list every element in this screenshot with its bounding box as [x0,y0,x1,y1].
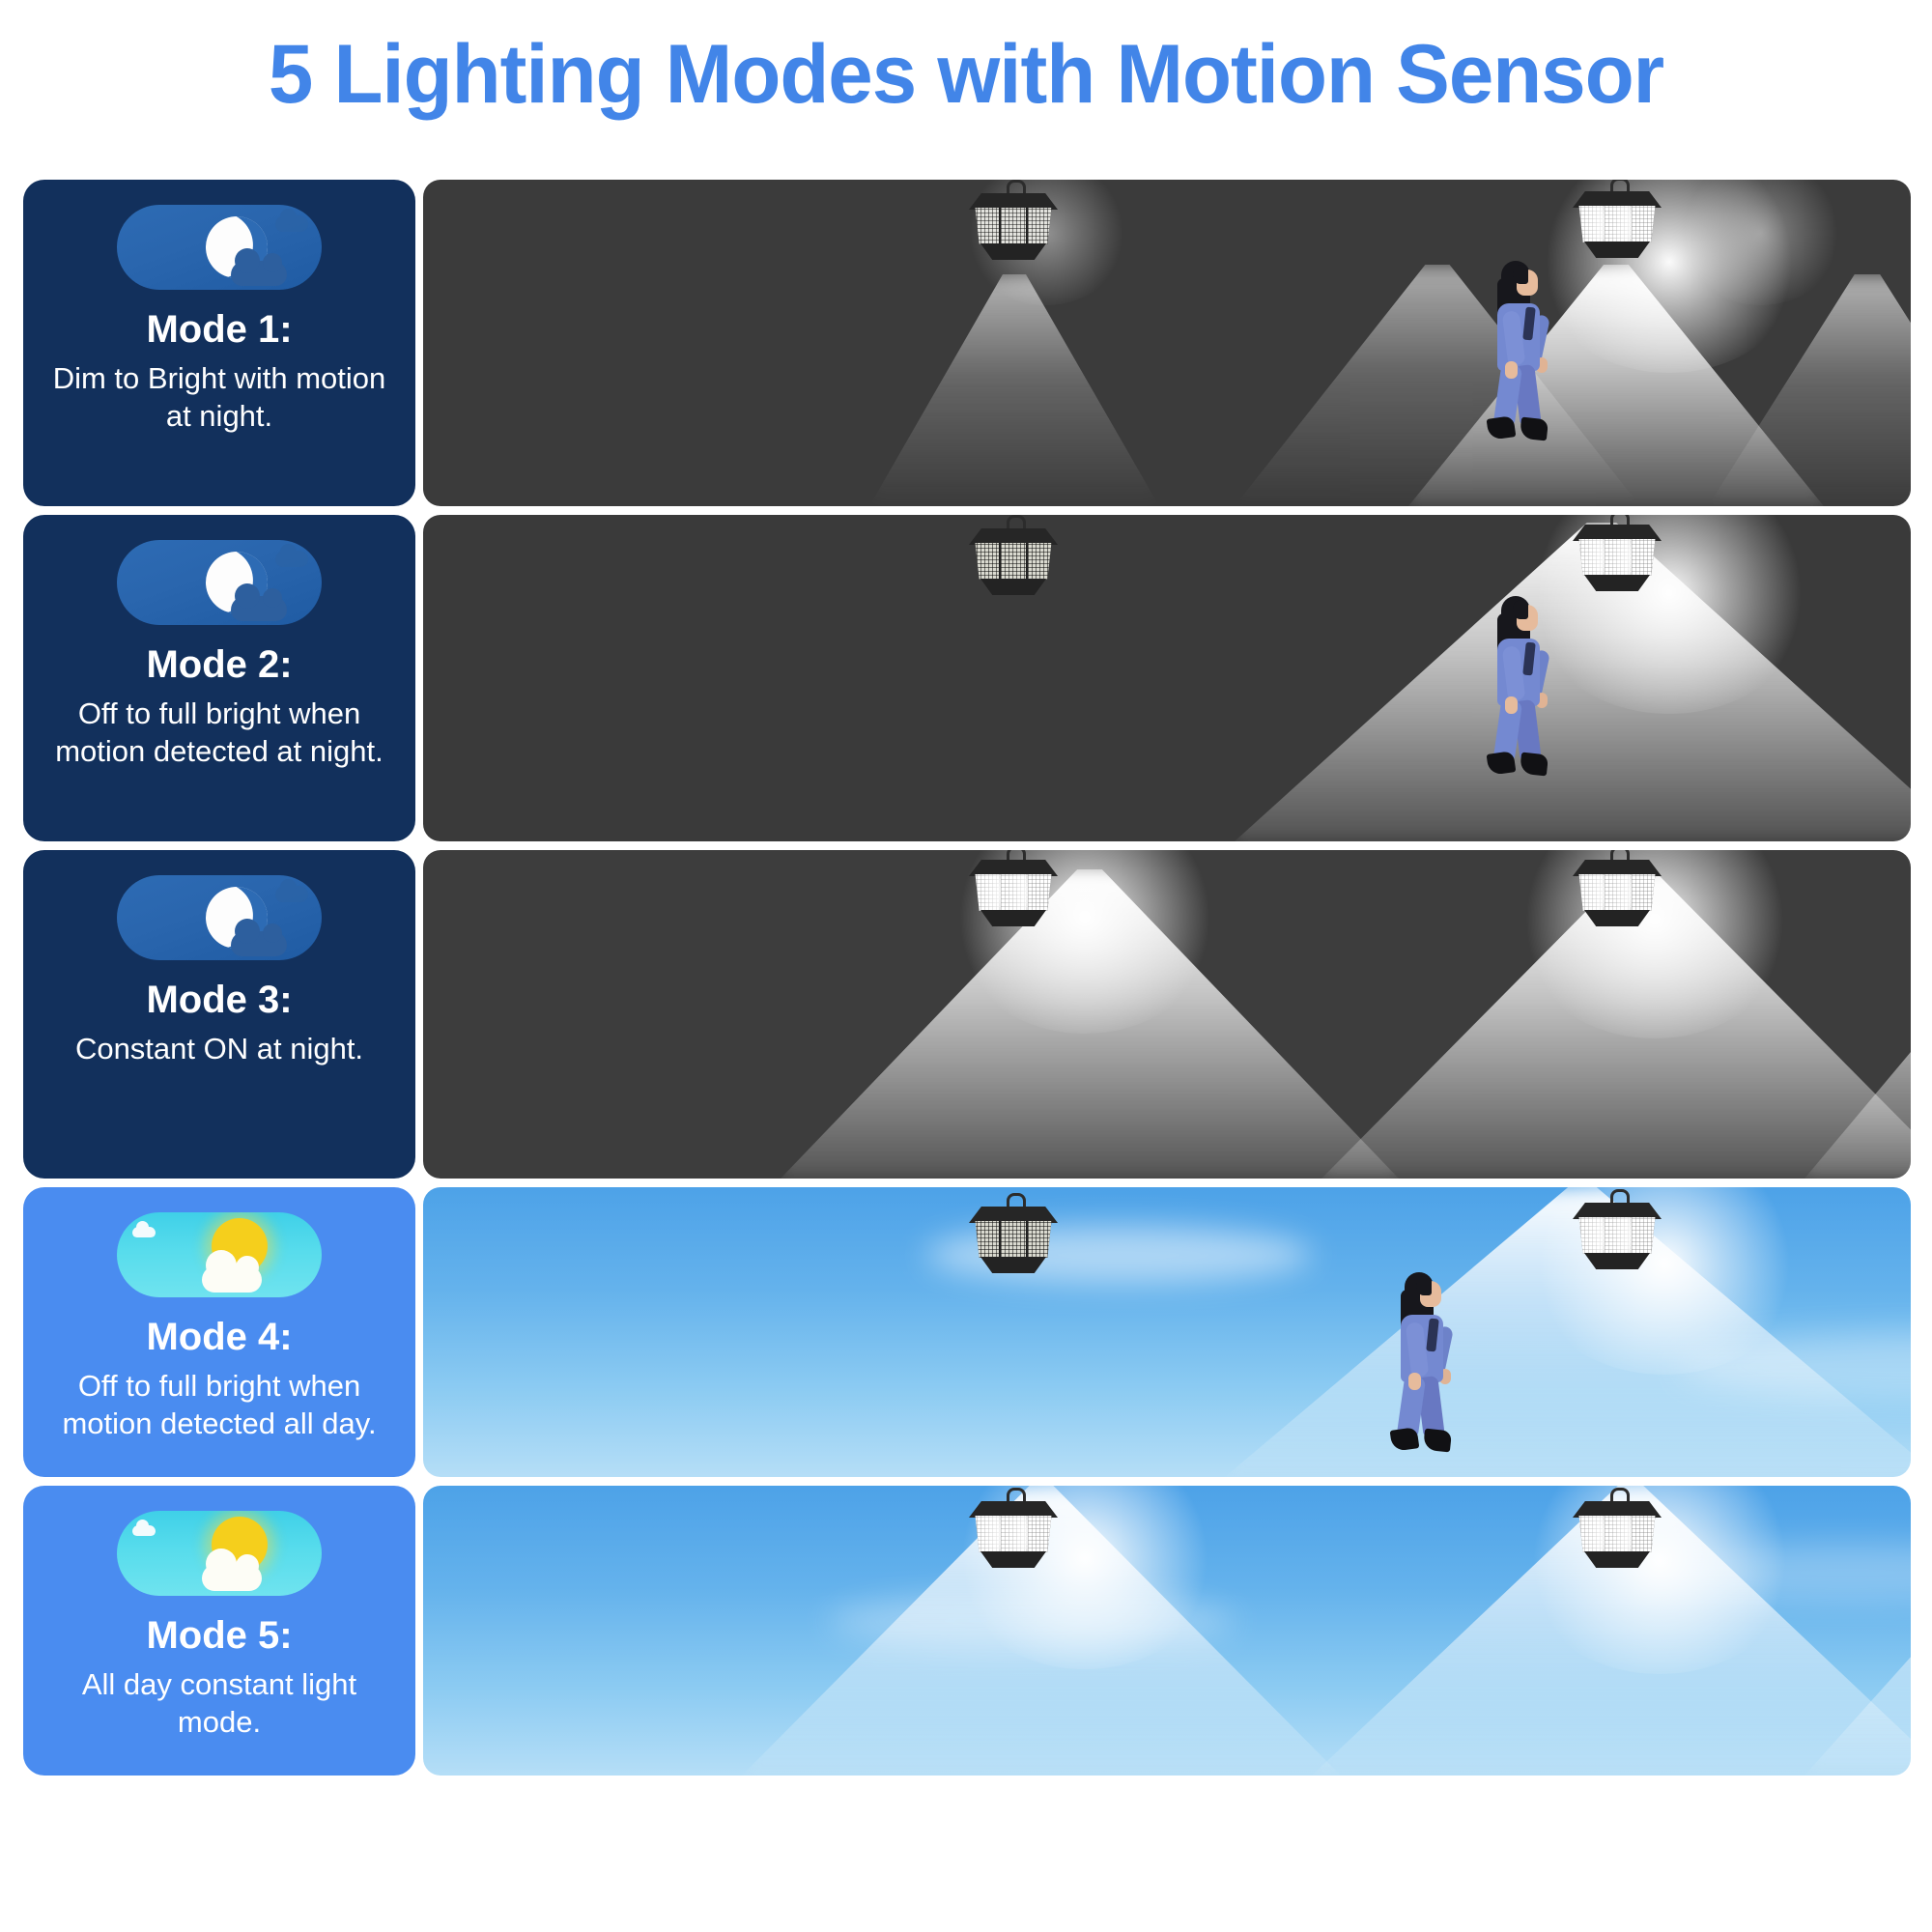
mode-4-scene-photo [423,1187,1911,1477]
mode-row-5: Mode 5: All day constant light mode. [23,1486,1911,1776]
walking-person [1476,596,1551,776]
lamp-cap [969,1501,1058,1518]
lamp-led-panels [1577,874,1658,911]
day-badge-4 [117,1212,322,1297]
mode-1-scene-photo [423,180,1911,506]
mode-row-4: Mode 4: Off to full bright when motion d… [23,1187,1911,1477]
lamp-fixture-left [969,1501,1058,1571]
lamp-led-panels [973,874,1054,911]
lamp-fixture-left [969,1207,1058,1276]
mode-5-scene-photo [423,1486,1911,1776]
mode-1-caption-card[interactable]: Mode 1: Dim to Bright with motion at nig… [23,180,415,506]
mode-2-description: Off to full bright when motion detected … [41,695,398,770]
cloud-icon-large [202,1265,262,1293]
walking-person [1379,1272,1455,1452]
mode-row-2: Mode 2: Off to full bright when motion d… [23,515,1911,841]
cloud-icon-small [275,215,308,232]
lamp-base [1584,575,1650,591]
mode-row-1: Mode 1: Dim to Bright with motion at nig… [23,180,1911,506]
lamp-base [980,579,1046,595]
mode-3-scene-photo [423,850,1911,1179]
page-title: 5 Lighting Modes with Motion Sensor [29,27,1903,123]
lamp-cap [969,860,1058,876]
lamp-cap [969,193,1058,210]
lamp-base [980,1551,1046,1568]
mode-4-title: Mode 4: [146,1317,292,1357]
lamp-led-panels [973,208,1054,244]
lamp-cap [1573,1501,1662,1518]
lamp-base [980,1257,1046,1273]
day-badge-5 [117,1511,322,1596]
cloud-icon-large [231,261,287,286]
lamp-base [980,910,1046,926]
lamp-fixture-center [1573,860,1662,929]
lamp-fixture-center [1573,191,1662,261]
cloud-icon-large [231,596,287,621]
lamp-base [980,243,1046,260]
cloud-icon-large [202,1564,262,1591]
night-badge-1 [117,205,322,290]
lamp-base [1584,1551,1650,1568]
lamp-led-panels [973,1221,1054,1258]
mode-2-scene-photo [423,515,1911,841]
lamp-led-panels [1577,206,1658,242]
lamp-cap [1573,1203,1662,1219]
mode-1-description: Dim to Bright with motion at night. [41,359,398,435]
mode-3-description: Constant ON at night. [41,1030,398,1067]
mode-3-title: Mode 3: [146,980,292,1020]
mode-4-caption-card[interactable]: Mode 4: Off to full bright when motion d… [23,1187,415,1477]
lamp-led-panels [1577,1217,1658,1254]
cloud-icon-small [132,1227,156,1237]
infographic-page: 5 Lighting Modes with Motion Sensor Mode… [0,0,1932,1932]
lamp-fixture-left [969,193,1058,263]
lamp-base [1584,241,1650,258]
lamp-fixture-center [1573,1501,1662,1571]
lamp-cap [1573,525,1662,541]
mode-2-caption-card[interactable]: Mode 2: Off to full bright when motion d… [23,515,415,841]
mode-3-caption-card[interactable]: Mode 3: Constant ON at night. [23,850,415,1179]
mode-row-3: Mode 3: Constant ON at night. [23,850,1911,1179]
cloud-icon-small [132,1525,156,1536]
lamp-led-panels [1577,1516,1658,1552]
cloud-icon-large [231,931,287,956]
cloud-icon-small [275,551,308,567]
mode-5-title: Mode 5: [146,1615,292,1656]
lamp-fixture-left [969,528,1058,598]
lamp-base [1584,1253,1650,1269]
lamp-cap [969,1207,1058,1223]
cloud-icon-small [275,886,308,902]
lamp-fixture-center [1573,525,1662,594]
lamp-cap [1573,860,1662,876]
lamp-base [1584,910,1650,926]
modes-list: Mode 1: Dim to Bright with motion at nig… [23,180,1911,1784]
lamp-fixture-center [1573,1203,1662,1272]
mode-2-title: Mode 2: [146,644,292,685]
lamp-led-panels [973,1516,1054,1552]
lamp-fixture-left [969,860,1058,929]
mode-4-description: Off to full bright when motion detected … [41,1367,398,1442]
lamp-cap [1573,191,1662,208]
night-badge-2 [117,540,322,625]
lamp-led-panels [973,543,1054,580]
mode-5-caption-card[interactable]: Mode 5: All day constant light mode. [23,1486,415,1776]
night-badge-3 [117,875,322,960]
lamp-cap [969,528,1058,545]
mode-5-description: All day constant light mode. [41,1665,398,1741]
mode-1-title: Mode 1: [146,309,292,350]
walking-person [1476,261,1551,440]
lamp-led-panels [1577,539,1658,576]
